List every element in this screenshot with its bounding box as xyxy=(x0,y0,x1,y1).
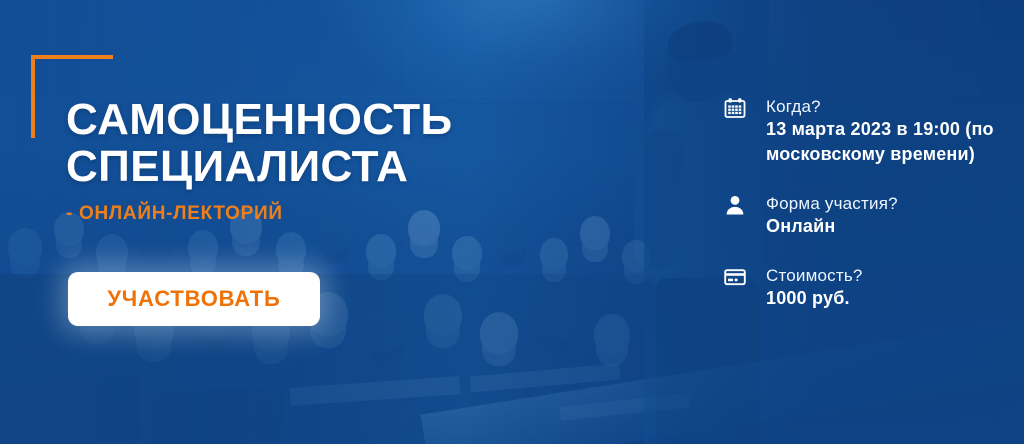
credit-card-icon xyxy=(724,266,746,288)
event-details-list: Когда? 13 марта 2023 в 19:00 (по московс… xyxy=(724,96,1004,337)
subtitle: - ОНЛАЙН-ЛЕКТОРИЙ xyxy=(66,203,283,225)
detail-row-when: Когда? 13 марта 2023 в 19:00 (по московс… xyxy=(724,96,1004,167)
calendar-icon xyxy=(724,97,746,119)
detail-label-when: Когда? xyxy=(766,96,1004,117)
detail-value-participation: Онлайн xyxy=(766,214,1004,239)
banner-content: САМОЦЕННОСТЬ СПЕЦИАЛИСТА - ОНЛАЙН-ЛЕКТОР… xyxy=(0,0,1024,444)
participate-button[interactable]: УЧАСТВОВАТЬ xyxy=(68,272,320,326)
title-line-1: САМОЦЕННОСТЬ xyxy=(66,95,453,144)
user-icon xyxy=(724,194,746,216)
page-title: САМОЦЕННОСТЬ СПЕЦИАЛИСТА xyxy=(66,96,536,190)
detail-label-participation: Форма участия? xyxy=(766,193,1004,214)
detail-value-price: 1000 руб. xyxy=(766,286,1004,311)
detail-value-when: 13 марта 2023 в 19:00 (по московскому вр… xyxy=(766,117,1004,167)
detail-label-price: Стоимость? xyxy=(766,265,1004,286)
title-line-2: СПЕЦИАЛИСТА xyxy=(66,143,536,190)
detail-row-participation: Форма участия? Онлайн xyxy=(724,193,1004,239)
detail-row-price: Стоимость? 1000 руб. xyxy=(724,265,1004,311)
event-promo-banner: САМОЦЕННОСТЬ СПЕЦИАЛИСТА - ОНЛАЙН-ЛЕКТОР… xyxy=(0,0,1024,444)
